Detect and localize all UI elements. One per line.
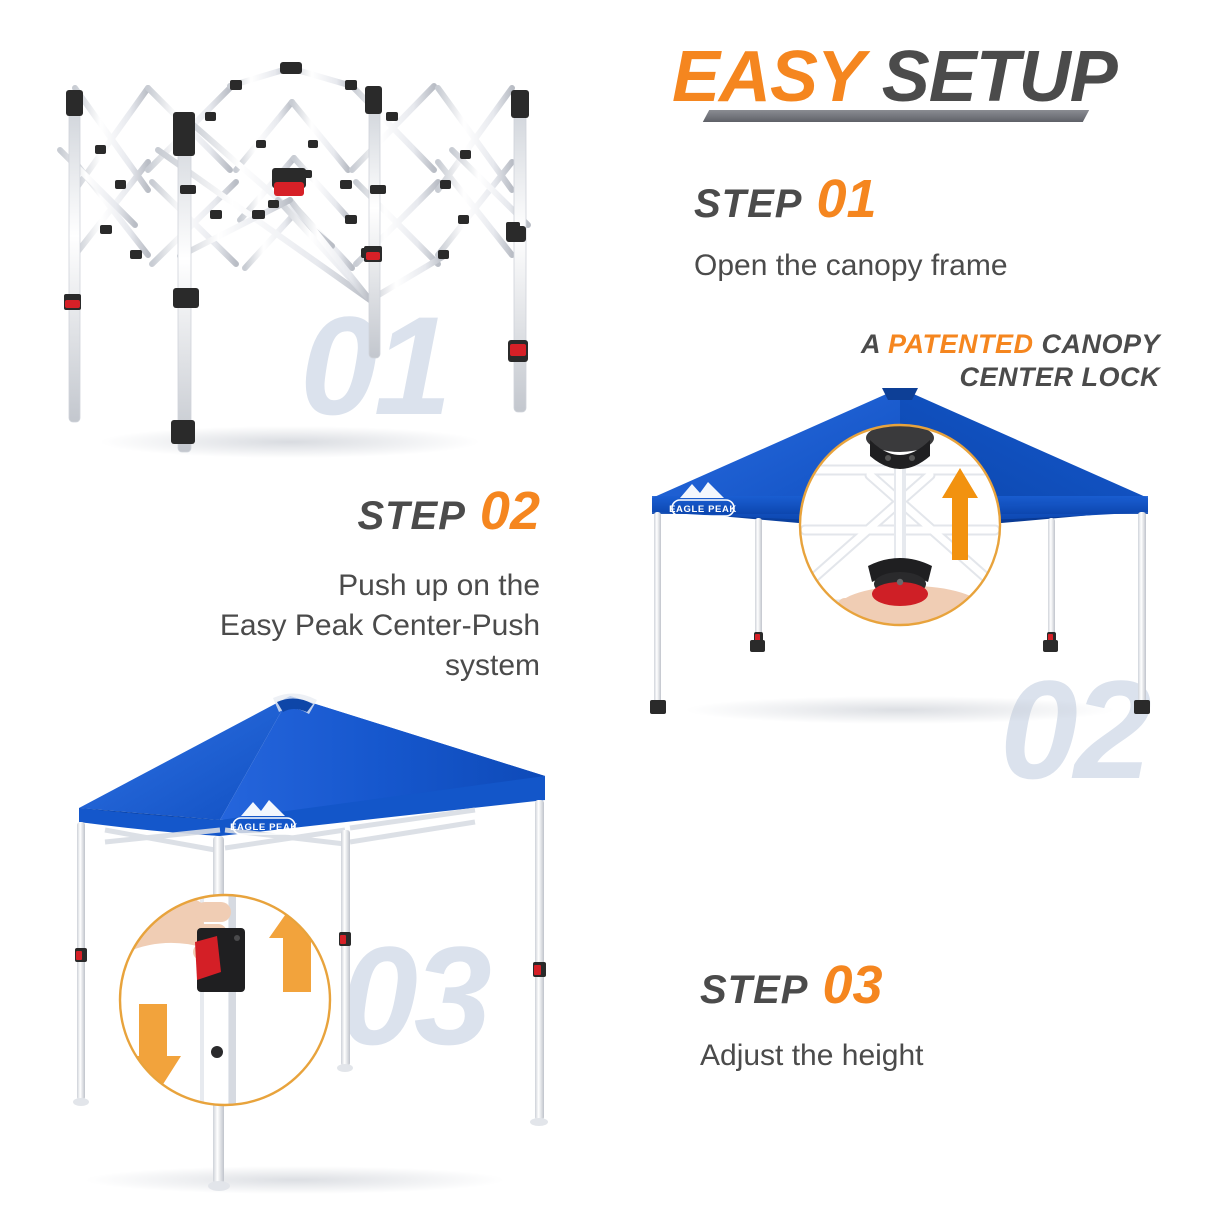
step-01-text-block: STEP01 Open the canopy frame [694, 172, 1008, 286]
title-easy: EASY [672, 37, 863, 117]
title-underline-bar [703, 110, 1089, 122]
step-02-number: 02 [480, 481, 540, 541]
step-01-description: Open the canopy frame [694, 246, 1008, 286]
brand-logo-text: EAGLE PEAK [230, 822, 298, 833]
patent-line1-pre: A [861, 329, 888, 359]
step-01-label: STEP [694, 182, 802, 226]
center-lock-red-button [274, 182, 304, 196]
canopy2-leg-buttons [754, 632, 1056, 644]
patent-line1-highlight: PATENTED [888, 329, 1034, 359]
step-03-description: Adjust the height [700, 1036, 1030, 1076]
step-02-label: STEP [357, 494, 465, 538]
canopy3-roof [79, 693, 545, 836]
canopy-center-lock-illustration: EAGLE PEAK [630, 370, 1170, 730]
leg-back [341, 830, 350, 1066]
frame-leg-left-rear [69, 112, 80, 422]
step-02-description-line-2: Easy Peak Center-Push [140, 606, 540, 646]
leg-lock-collar [195, 928, 245, 992]
frame-leg-right-front [514, 112, 526, 412]
page-title: EASY SETUP [672, 38, 1152, 138]
title-setup: SETUP [882, 37, 1117, 117]
canopy2-ground-shadow [685, 696, 1115, 724]
patent-line1-post: CANOPY [1033, 329, 1160, 359]
step-02-text-block: STEP02 Push up on the Easy Peak Center-P… [140, 484, 540, 686]
center-lock-red-cap [872, 582, 928, 606]
step-02-description-line-1: Push up on the [140, 566, 540, 606]
step-01-number: 01 [816, 169, 876, 229]
step-03-text-block: STEP03 Adjust the height [700, 958, 1030, 1076]
leg-height-callout [115, 880, 330, 1120]
canopy-leg-height-illustration: EAGLE PEAK [45, 680, 565, 1200]
canopy-frame-illustration [40, 50, 580, 470]
infographic-canvas: EASY SETUP STEP01 Open the canopy frame … [0, 0, 1214, 1214]
leg-pin-hole [211, 1046, 223, 1058]
frame-center-lock [272, 168, 306, 196]
frame-ground-shadow [100, 426, 480, 458]
center-lock-slider [868, 558, 932, 606]
step-03-label: STEP [700, 968, 808, 1012]
canopy3-ground-shadow [85, 1166, 505, 1194]
frame-leg-right-rear [369, 108, 380, 358]
center-lock-callout [800, 424, 1000, 630]
leg-right [535, 800, 544, 1120]
brand-logo-text: EAGLE PEAK [669, 504, 737, 515]
step-03-number: 03 [822, 955, 882, 1015]
